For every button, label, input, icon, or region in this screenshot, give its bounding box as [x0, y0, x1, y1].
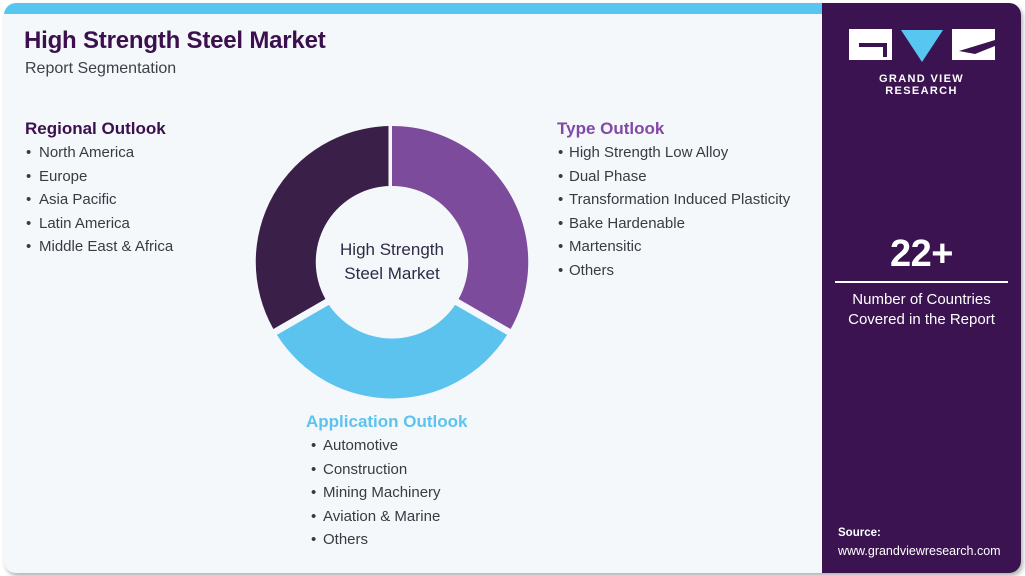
- application-outlook-heading: Application Outlook: [303, 412, 553, 432]
- application-outlook-block: Application Outlook Automotive Construct…: [303, 412, 553, 552]
- list-item: Dual Phase: [557, 165, 807, 189]
- report-card: High Strength Steel Market Report Segmen…: [4, 3, 1021, 573]
- list-item: Construction: [303, 458, 553, 482]
- source-heading: Source:: [838, 525, 1018, 542]
- list-item: Mining Machinery: [303, 481, 553, 505]
- list-item: Others: [557, 259, 807, 283]
- stat-label-line-2: Covered in the Report: [822, 310, 1021, 330]
- type-outlook-heading: Type Outlook: [557, 119, 807, 139]
- list-item: North America: [25, 141, 275, 165]
- list-item: Europe: [25, 165, 275, 189]
- countries-stat: 22+ Number of Countries Covered in the R…: [822, 233, 1021, 330]
- donut-segment-regional: [256, 126, 389, 329]
- logo-wordmark: GRAND VIEW RESEARCH: [849, 73, 995, 97]
- application-outlook-list: Automotive Construction Mining Machinery…: [303, 434, 553, 552]
- donut-segment-application: [277, 305, 507, 399]
- source-url[interactable]: www.grandviewresearch.com: [838, 542, 1018, 560]
- list-item: High Strength Low Alloy: [557, 141, 807, 165]
- list-item: Martensitic: [557, 235, 807, 259]
- list-item: Latin America: [25, 212, 275, 236]
- list-item: Transformation Induced Plasticity: [557, 188, 807, 212]
- list-item: Bake Hardenable: [557, 212, 807, 236]
- segmentation-donut-chart: High Strength Steel Market: [251, 121, 533, 403]
- list-item: Aviation & Marine: [303, 505, 553, 529]
- page-title: High Strength Steel Market: [24, 27, 326, 55]
- stat-number: 22+: [822, 233, 1021, 275]
- sidebar-panel: GRAND VIEW RESEARCH 22+ Number of Countr…: [822, 3, 1021, 573]
- stat-divider: [835, 281, 1008, 283]
- source-block: Source: www.grandviewresearch.com: [838, 525, 1018, 560]
- list-item: Asia Pacific: [25, 188, 275, 212]
- regional-outlook-list: North America Europe Asia Pacific Latin …: [25, 141, 275, 259]
- grand-view-research-logo: GRAND VIEW RESEARCH: [849, 29, 995, 97]
- donut-segment-type: [392, 126, 528, 329]
- type-outlook-list: High Strength Low Alloy Dual Phase Trans…: [557, 141, 807, 282]
- list-item: Automotive: [303, 434, 553, 458]
- page-subtitle: Report Segmentation: [25, 60, 176, 78]
- donut-svg: [251, 121, 533, 403]
- list-item: Middle East & Africa: [25, 235, 275, 259]
- main-content-area: High Strength Steel Market Report Segmen…: [4, 14, 822, 573]
- regional-outlook-heading: Regional Outlook: [25, 119, 275, 139]
- infographic-canvas: High Strength Steel Market Report Segmen…: [0, 0, 1025, 576]
- stat-label-line-1: Number of Countries: [822, 290, 1021, 310]
- type-outlook-block: Type Outlook High Strength Low Alloy Dua…: [557, 119, 807, 282]
- top-accent-bar: [4, 3, 822, 14]
- list-item: Others: [303, 528, 553, 552]
- regional-outlook-block: Regional Outlook North America Europe As…: [25, 119, 275, 259]
- gvr-logo-icon: [849, 29, 995, 63]
